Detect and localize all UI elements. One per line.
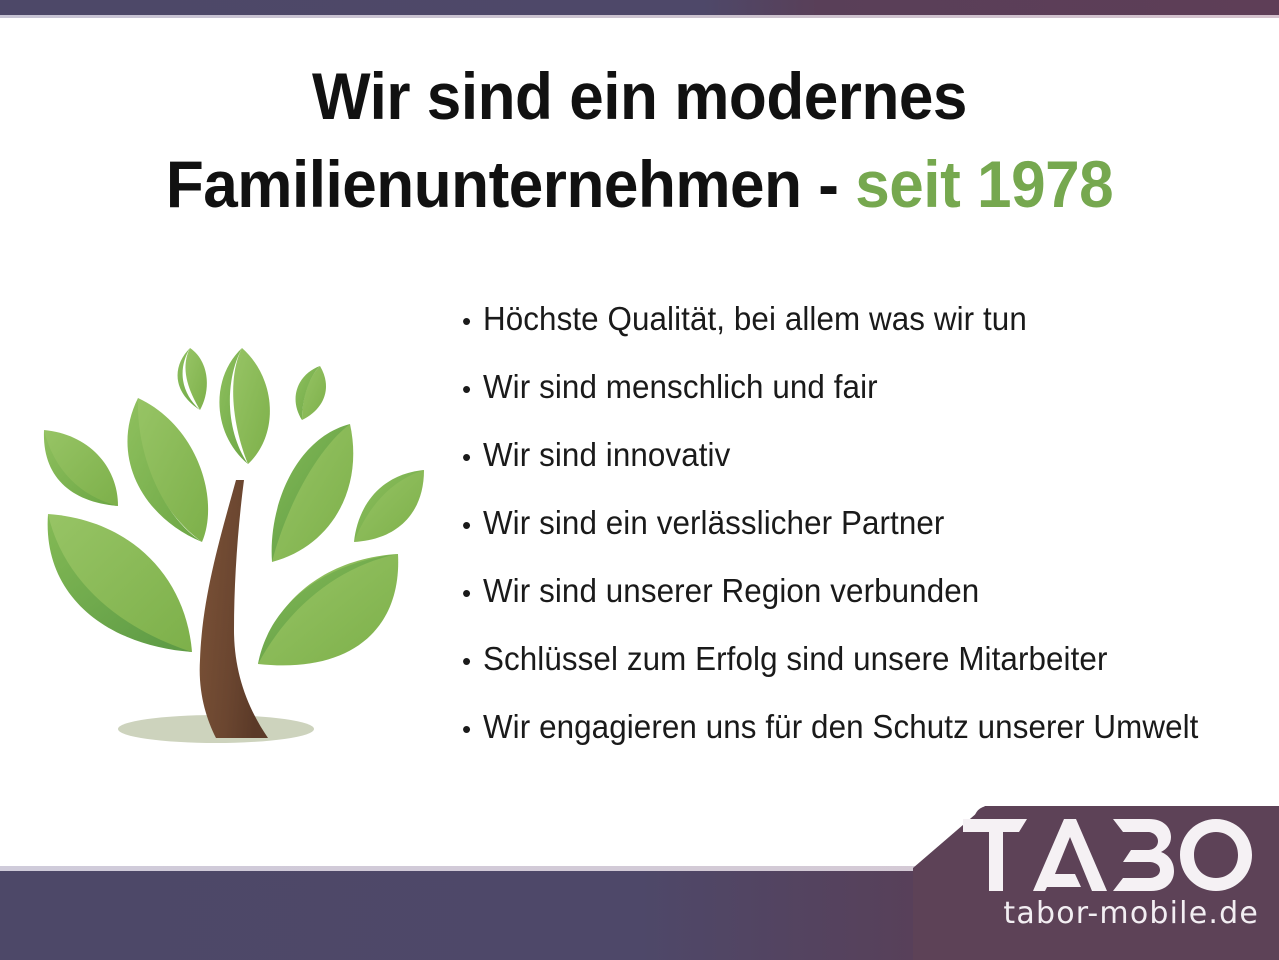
top-accent-bar	[0, 0, 1279, 15]
leaf-left-upper-large	[127, 398, 208, 542]
bullet-marker-icon: •	[455, 512, 483, 538]
leaf-top-center	[219, 348, 269, 464]
list-item: • Wir engagieren uns für den Schutz unse…	[455, 708, 1265, 776]
tree-trunk	[200, 480, 268, 738]
headline-line-1: Wir sind ein modernes	[38, 52, 1240, 140]
leaf-left-upper-small	[44, 430, 118, 506]
list-item: • Höchste Qualität, bei allem was wir tu…	[455, 300, 1265, 368]
leaf-right-lower-large	[258, 554, 398, 665]
headline-line-2-plain: Familienunternehmen -	[166, 147, 855, 221]
tabor-logo-icon	[963, 819, 1259, 891]
leaf-left-lower-large	[48, 514, 192, 652]
bullet-marker-icon: •	[455, 308, 483, 334]
list-item-label: Wir sind menschlich und fair	[483, 368, 878, 406]
list-item: • Schlüssel zum Erfolg sind unsere Mitar…	[455, 640, 1265, 708]
leaf-top-left	[178, 348, 207, 410]
bullet-marker-icon: •	[455, 376, 483, 402]
list-item-label: Wir sind ein verlässlicher Partner	[483, 504, 944, 542]
list-item: • Wir sind innovativ	[455, 436, 1265, 504]
list-item: • Wir sind menschlich und fair	[455, 368, 1265, 436]
bullet-marker-icon: •	[455, 716, 483, 742]
list-item-label: Wir sind innovativ	[483, 436, 730, 474]
headline-line-2: Familienunternehmen - seit 1978	[38, 140, 1240, 228]
list-item-label: Wir engagieren uns für den Schutz unsere…	[483, 708, 1198, 746]
headline-accent-year: seit 1978	[855, 147, 1113, 221]
list-item: • Wir sind ein verlässlicher Partner	[455, 504, 1265, 572]
top-accent-bar-highlight	[0, 15, 1279, 18]
bullet-marker-icon: •	[455, 444, 483, 470]
leaf-top-right	[296, 366, 326, 420]
bullet-marker-icon: •	[455, 648, 483, 674]
logo-url-label: tabor-mobile.de	[913, 896, 1259, 931]
slide-canvas: Wir sind ein modernes Familienunternehme…	[0, 0, 1279, 960]
list-item: • Wir sind unserer Region verbunden	[455, 572, 1265, 640]
page-title: Wir sind ein modernes Familienunternehme…	[38, 52, 1240, 228]
leaf-right-mid	[354, 470, 424, 542]
value-list: • Höchste Qualität, bei allem was wir tu…	[455, 300, 1265, 776]
list-item-label: Wir sind unserer Region verbunden	[483, 572, 979, 610]
list-item-label: Schlüssel zum Erfolg sind unsere Mitarbe…	[483, 640, 1107, 678]
list-item-label: Höchste Qualität, bei allem was wir tun	[483, 300, 1027, 338]
leaf-right-upper-large	[272, 424, 354, 562]
tree-illustration	[20, 330, 440, 760]
bullet-marker-icon: •	[455, 580, 483, 606]
